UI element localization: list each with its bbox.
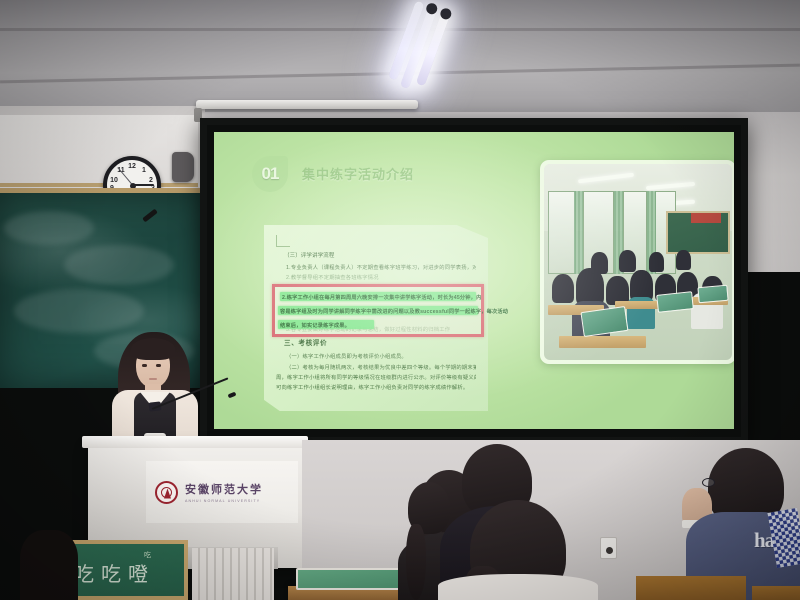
podium-branding-panel: 安徽师范大学 ANHUI NORMAL UNIVERSITY: [146, 461, 298, 523]
doc-section-heading: （三）评学讲学流程: [276, 251, 476, 263]
presenter-bangs: [131, 338, 175, 360]
slide-title: 集中练字活动介绍: [302, 164, 414, 183]
screen-roller-bar: [196, 100, 418, 109]
doc-line: 可向练字工作小组组长说明理由，练字工作小组负责对同学的练字成绩作解析。: [276, 383, 476, 393]
clock-numeral: 1: [139, 166, 149, 176]
doc-line: 2.教学督导组不定期抽查各班练字情况: [276, 273, 476, 283]
presenter-eye: [142, 364, 147, 367]
foreground-person: [20, 530, 78, 600]
chair-back: [636, 576, 746, 600]
chair-back: [752, 586, 800, 600]
doc-line: 周，练字工作小组将所有同学的等级情况在班级群内进行公示。对评价等级有疑义的同学: [276, 373, 476, 383]
glasses-icon: [702, 478, 715, 487]
presentation-slide: 01 集中练字活动介绍 （三）评学讲学流程 1.专业负责人（课程负责人）不定期查…: [214, 132, 734, 429]
audience-ponytail: [406, 524, 426, 600]
clock-numeral: 10: [109, 176, 119, 186]
university-name-en: ANHUI NORMAL UNIVERSITY: [185, 499, 263, 503]
slide-number-badge: 01: [252, 156, 288, 192]
doc-line: （一）练字工作小组成员即为考核评价小组成员。: [276, 352, 476, 362]
highlight-text: 结束后，如实记录练字成果。: [280, 322, 350, 329]
presenter-mouth: [149, 378, 157, 380]
wall-radiator: [192, 548, 274, 600]
wall-outlet: [600, 537, 617, 559]
chalkboard-eraser: [142, 209, 158, 223]
highlight-text: 容是练字组及时为同学讲解同学练字中需改进的问题以及教successful同学一起…: [280, 308, 508, 315]
practice-writing-board: 吃 吃吃噔: [62, 540, 188, 600]
red-emphasis-box: 2.练字工作小组在每月第四周周六晚安排一次集中讲学练字活动，时长为45分钟，内 …: [272, 284, 484, 337]
practice-board-text: 吃吃噔: [74, 558, 155, 587]
university-crest-icon: [155, 481, 178, 504]
projection-screen: 01 集中练字活动介绍 （三）评学讲学流程 1.专业负责人（课程负责人）不定期查…: [200, 118, 748, 444]
clock-numeral: 12: [127, 162, 137, 172]
doc-eval-heading: 三、考核评价: [276, 336, 476, 352]
podium-top-surface: [82, 436, 308, 448]
presenter: [104, 330, 208, 450]
presenter-eye: [156, 364, 161, 367]
university-name-cn: 安徽师范大学: [185, 481, 263, 497]
lecture-hall-photo: 12 1 2 3 4 5 6 7 8 9 10 11: [0, 0, 800, 600]
audience-shoulders: [438, 574, 598, 600]
highlight-text: 2.练字工作小组在每月第四周周六晚安排一次集中讲学练字活动，时长为45分钟，内: [282, 294, 481, 301]
classroom-photo-inset: [540, 160, 734, 364]
document-corner-mark: [276, 235, 290, 247]
whiteboard-strip: [0, 115, 198, 187]
doc-line: 1.专业负责人（课程负责人）不定期查看练字班学练习，对进步的同学表扬，对差行: [276, 263, 476, 273]
doc-line: （二）考核为每月随机两次，考核结果为优良中差四个等级。每个学期的期末第二: [276, 363, 476, 373]
wall-mount-bracket: [172, 152, 194, 182]
classroom-photo-body: [544, 164, 732, 360]
slide-number: 01: [262, 164, 279, 184]
